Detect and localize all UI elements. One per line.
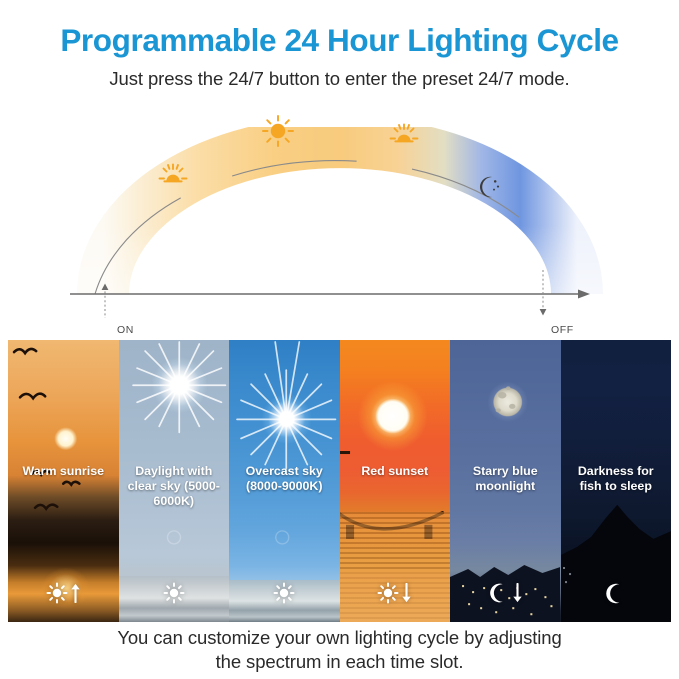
arrow-down-icon — [512, 583, 523, 603]
footer-caption: You can customize your own lighting cycl… — [0, 626, 679, 675]
lighting-scene-strip: Warm sunrise — [8, 340, 671, 622]
arrow-up-icon — [70, 583, 81, 603]
moon-icon — [604, 582, 627, 605]
panel-icon-sun — [119, 578, 230, 608]
panel-icon-sun — [229, 578, 340, 608]
on-tick — [102, 284, 109, 319]
caption-line-2: the spectrum in each time slot. — [0, 650, 679, 674]
infographic-page: Programmable 24 Hour Lighting Cycle Just… — [0, 0, 679, 679]
sun-icon — [163, 582, 185, 604]
axis-label-on: ON — [117, 324, 134, 336]
time-axis — [70, 290, 590, 299]
moon-icon — [488, 582, 510, 604]
panel-darkness-for-fish[interactable]: Darkness for fish to sleep — [561, 340, 672, 622]
panel-daylight-clear-sky[interactable]: Daylight with clear sky (5000-6000K) — [119, 340, 230, 622]
off-tick — [540, 270, 547, 316]
caption-line-1: You can customize your own lighting cycl… — [0, 626, 679, 650]
panel-icon-moon — [561, 578, 672, 608]
panel-label: Red sunset — [340, 464, 451, 479]
panel-label: Darkness for fish to sleep — [561, 464, 672, 494]
header: Programmable 24 Hour Lighting Cycle Just… — [0, 0, 679, 90]
panel-icon-moon-down — [450, 578, 561, 608]
spectrum-arc — [103, 142, 577, 294]
arrow-down-icon — [401, 583, 412, 603]
lighting-cycle-diagram: ON OFF — [0, 98, 679, 330]
sun-icon — [46, 582, 68, 604]
panel-warm-sunrise[interactable]: Warm sunrise — [8, 340, 119, 622]
panel-icon-sun-down — [340, 578, 451, 608]
panel-starry-blue-moonlight[interactable]: Starry blue moonlight — [450, 340, 561, 622]
sun-icon — [377, 582, 399, 604]
arc-diagram-svg — [0, 98, 679, 330]
panel-red-sunset[interactable]: Red sunset — [340, 340, 451, 622]
panel-label: Starry blue moonlight — [450, 464, 561, 494]
sun-icon — [273, 582, 295, 604]
panel-icon-sun-up — [8, 578, 119, 608]
page-title: Programmable 24 Hour Lighting Cycle — [0, 24, 679, 57]
page-subtitle: Just press the 24/7 button to enter the … — [0, 68, 679, 90]
panel-label: Daylight with clear sky (5000-6000K) — [119, 464, 230, 509]
sun-icon — [263, 116, 293, 146]
panel-label: Warm sunrise — [8, 464, 119, 479]
panel-label: Overcast sky (8000-9000K) — [229, 464, 340, 494]
axis-label-off: OFF — [551, 324, 574, 336]
panel-overcast-sky[interactable]: Overcast sky (8000-9000K) — [229, 340, 340, 622]
